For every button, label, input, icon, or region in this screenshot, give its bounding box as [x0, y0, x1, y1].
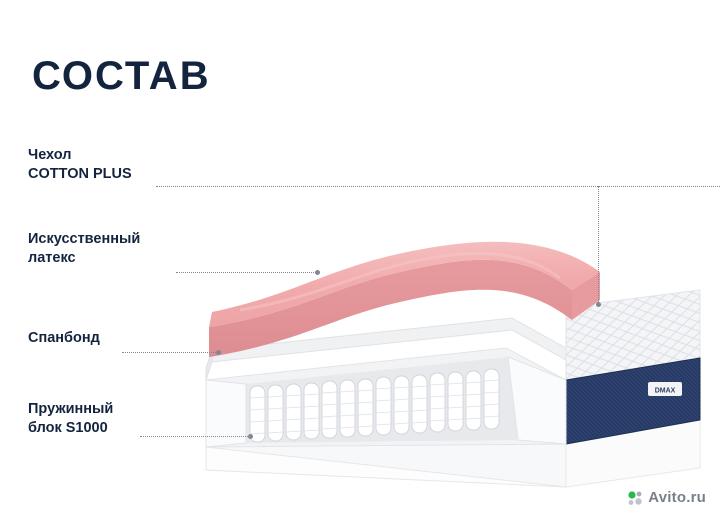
leader-dot-cover [596, 302, 601, 307]
base-logo-text: DMAX [655, 388, 676, 395]
product-infographic: СОСТАВ [0, 0, 720, 516]
leader-line-cover [156, 186, 720, 187]
spring-block [206, 348, 566, 447]
leader-line-cover-vertical [598, 186, 599, 304]
leader-line-latex [176, 272, 318, 273]
label-spunbond: Спанбонд [28, 329, 100, 348]
avito-logo-icon [627, 490, 643, 506]
leader-dot-springs [248, 434, 253, 439]
leader-dot-spunbond [216, 350, 221, 355]
label-cover: Чехол COTTON PLUS [28, 146, 132, 183]
leader-dot-latex [315, 270, 320, 275]
leader-line-springs [140, 436, 250, 437]
label-latex: Искусственный латекс [28, 230, 140, 267]
avito-watermark-text: Avito.ru [648, 489, 706, 506]
avito-watermark: Avito.ru [627, 489, 706, 506]
label-springs: Пружинный блок S1000 [28, 400, 113, 437]
leader-line-spunbond [122, 352, 218, 353]
